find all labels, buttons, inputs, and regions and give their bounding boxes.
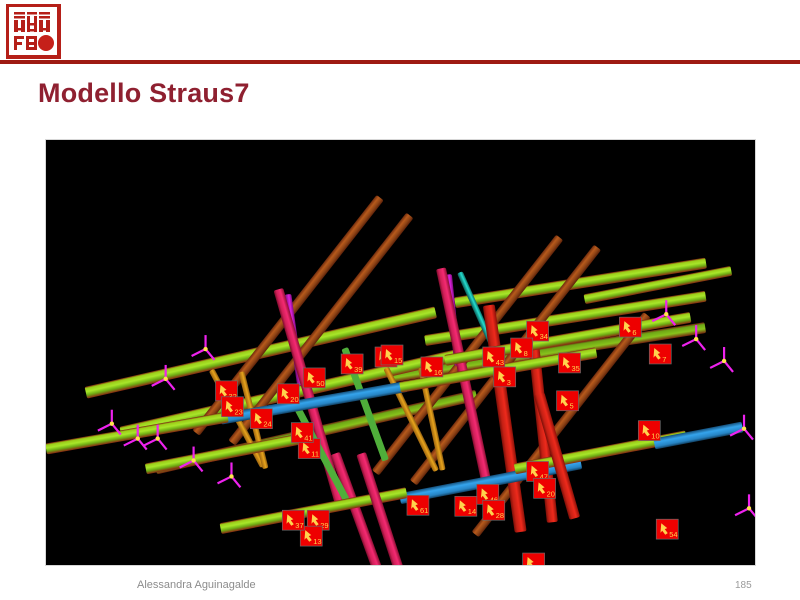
node-label: 35 [572, 364, 580, 373]
node-marker-box[interactable] [494, 367, 516, 387]
node-label: 28 [496, 511, 504, 520]
node-marker[interactable]: 24 [250, 409, 272, 429]
node-label: 41 [304, 434, 312, 443]
node-marker[interactable]: 8 [511, 338, 533, 358]
restraint-node-dot [694, 337, 698, 341]
node-marker[interactable]: 43 [483, 347, 505, 367]
node-label: 8 [524, 349, 528, 358]
node-label: 24 [263, 420, 271, 429]
node-marker[interactable]: 10 [638, 421, 660, 441]
node-marker[interactable]: 14 [455, 496, 477, 516]
restraint-node-dot [722, 359, 726, 363]
footer-author: Alessandra Aguinagalde [137, 579, 256, 591]
node-marker[interactable]: 41 [291, 423, 313, 443]
node-marker-box[interactable] [557, 391, 579, 411]
node-label: 50 [316, 379, 324, 388]
restraint-node-dot [203, 347, 207, 351]
node-label: 52 [536, 564, 544, 565]
node-marker[interactable]: 16 [421, 357, 443, 377]
restraint-node-dot [664, 312, 668, 316]
node-label: 20 [547, 489, 555, 498]
node-marker[interactable]: 52 [523, 553, 545, 565]
node-label: 37 [295, 521, 303, 530]
page-title: Modello Straus7 [38, 78, 250, 109]
node-label: 14 [468, 507, 476, 516]
node-marker[interactable]: 3 [494, 367, 516, 387]
restraint-node-dot [229, 474, 233, 478]
node-marker[interactable]: 6 [619, 317, 641, 337]
node-marker[interactable]: 23 [222, 397, 244, 417]
node-label: 39 [354, 365, 362, 374]
footer-page-number: 185 [735, 580, 752, 591]
node-label: 3 [507, 378, 511, 387]
node-marker[interactable]: 7 [649, 344, 671, 364]
node-marker[interactable]: 61 [407, 495, 429, 515]
node-marker[interactable]: 28 [483, 500, 505, 520]
node-label: 10 [651, 432, 659, 441]
node-label: 43 [496, 358, 504, 367]
node-marker[interactable]: 20 [277, 384, 299, 404]
node-label: 7 [662, 355, 666, 364]
restraint-node-dot [191, 458, 195, 462]
node-label: 13 [313, 537, 321, 546]
node-label: 6 [632, 328, 636, 337]
node-marker[interactable]: 37 [282, 510, 304, 530]
node-marker[interactable]: 5 [557, 391, 579, 411]
node-marker[interactable]: 54 [656, 519, 678, 539]
node-marker[interactable]: 50 [303, 368, 325, 388]
node-marker-box[interactable] [511, 338, 533, 358]
node-marker[interactable]: 39 [341, 354, 363, 374]
node-label: 34 [540, 332, 548, 341]
node-label: 61 [420, 506, 428, 515]
node-label: 20 [290, 395, 298, 404]
node-label: 5 [570, 402, 574, 411]
restraint-node-dot [136, 436, 140, 440]
node-label: 11 [311, 450, 319, 459]
node-marker-box[interactable] [649, 344, 671, 364]
node-label: 54 [669, 530, 677, 539]
node-marker-box[interactable] [619, 317, 641, 337]
node-marker[interactable]: 20 [534, 478, 556, 498]
seal-logo [6, 4, 62, 60]
node-marker[interactable]: 15 [381, 345, 403, 365]
restraint-node-dot [742, 426, 746, 430]
restraint-node-dot [747, 506, 751, 510]
header-divider [0, 60, 800, 64]
node-label: 15 [394, 356, 402, 365]
straus7-model-figure: 3435336785322324114150391516433202913104… [45, 139, 756, 566]
straus7-model-viewport: 3435336785322324114150391516433202913104… [46, 140, 755, 565]
restraint-node-dot [163, 377, 167, 381]
restraint-node-dot [155, 436, 159, 440]
node-label: 16 [434, 368, 442, 377]
seal-logo-icon [6, 4, 62, 60]
node-marker[interactable]: 35 [559, 353, 581, 373]
node-label: 23 [234, 408, 242, 417]
restraint-node-dot [110, 421, 114, 425]
